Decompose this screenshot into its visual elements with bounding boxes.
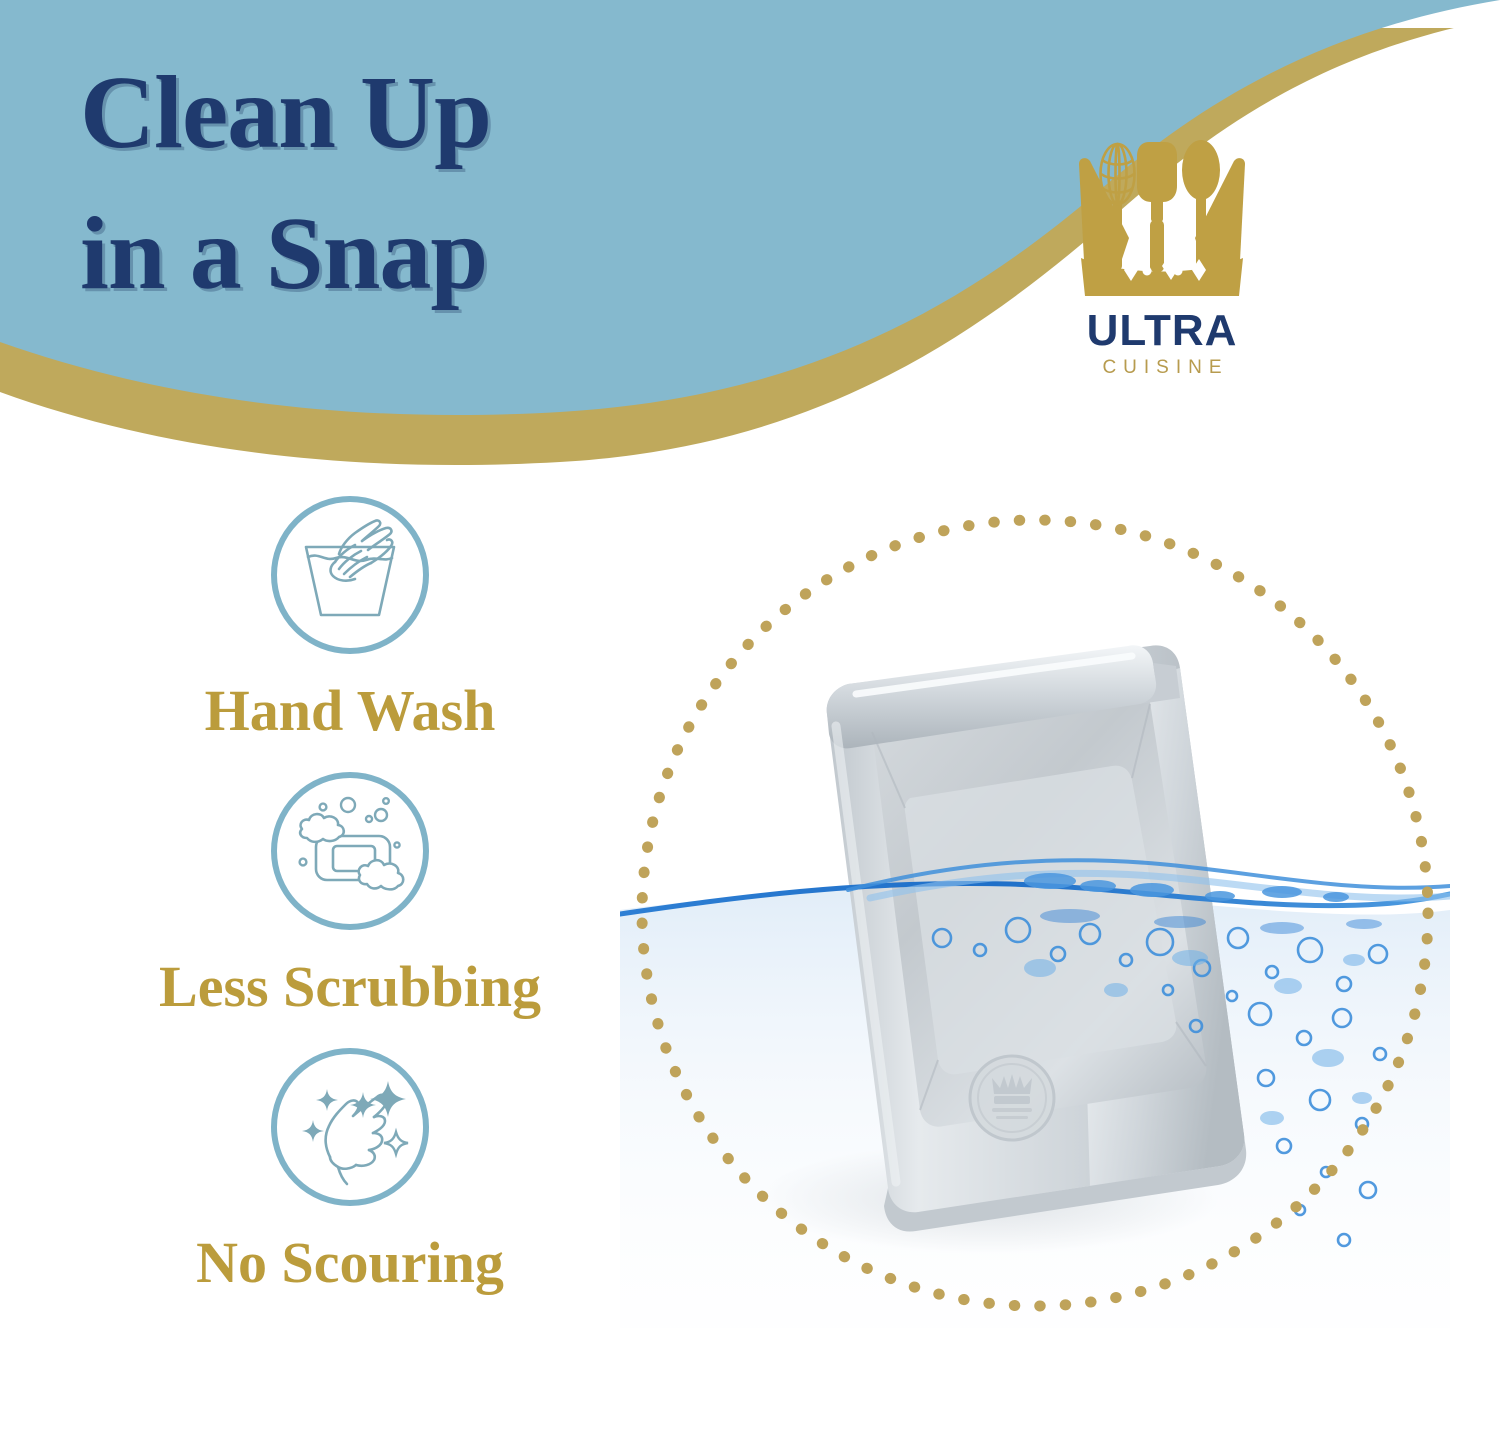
product-feature-infographic: Clean Up in a Snap xyxy=(0,0,1500,1440)
dotted-circle-frame xyxy=(620,498,1450,1333)
feature-label-no-scouring: No Scouring xyxy=(60,1234,640,1292)
product-showcase xyxy=(620,498,1450,1328)
brand-name: ULTRA xyxy=(1062,309,1262,353)
chef-crown-utensils-icon xyxy=(1062,130,1262,303)
feature-label-hand-wash: Hand Wash xyxy=(60,682,640,740)
feature-item-no-scouring: No Scouring xyxy=(60,1044,640,1292)
brand-tagline: CUISINE xyxy=(1062,358,1262,377)
brand-logo: ULTRA CUISINE xyxy=(1062,130,1262,377)
feature-item-hand-wash: Hand Wash xyxy=(60,492,640,740)
headline-line-2: in a Snap xyxy=(80,183,780,324)
feature-label-less-scrubbing: Less Scrubbing xyxy=(60,958,640,1016)
headline-line-1: Clean Up xyxy=(80,42,780,183)
page-title: Clean Up in a Snap xyxy=(80,42,780,325)
feature-item-less-scrubbing: Less Scrubbing xyxy=(60,768,640,1016)
hand-wash-basin-icon xyxy=(267,492,433,658)
feature-list: Hand Wash xyxy=(60,492,640,1320)
soap-bar-suds-icon xyxy=(267,768,433,934)
snapping-fingers-sparkle-icon xyxy=(267,1044,433,1210)
